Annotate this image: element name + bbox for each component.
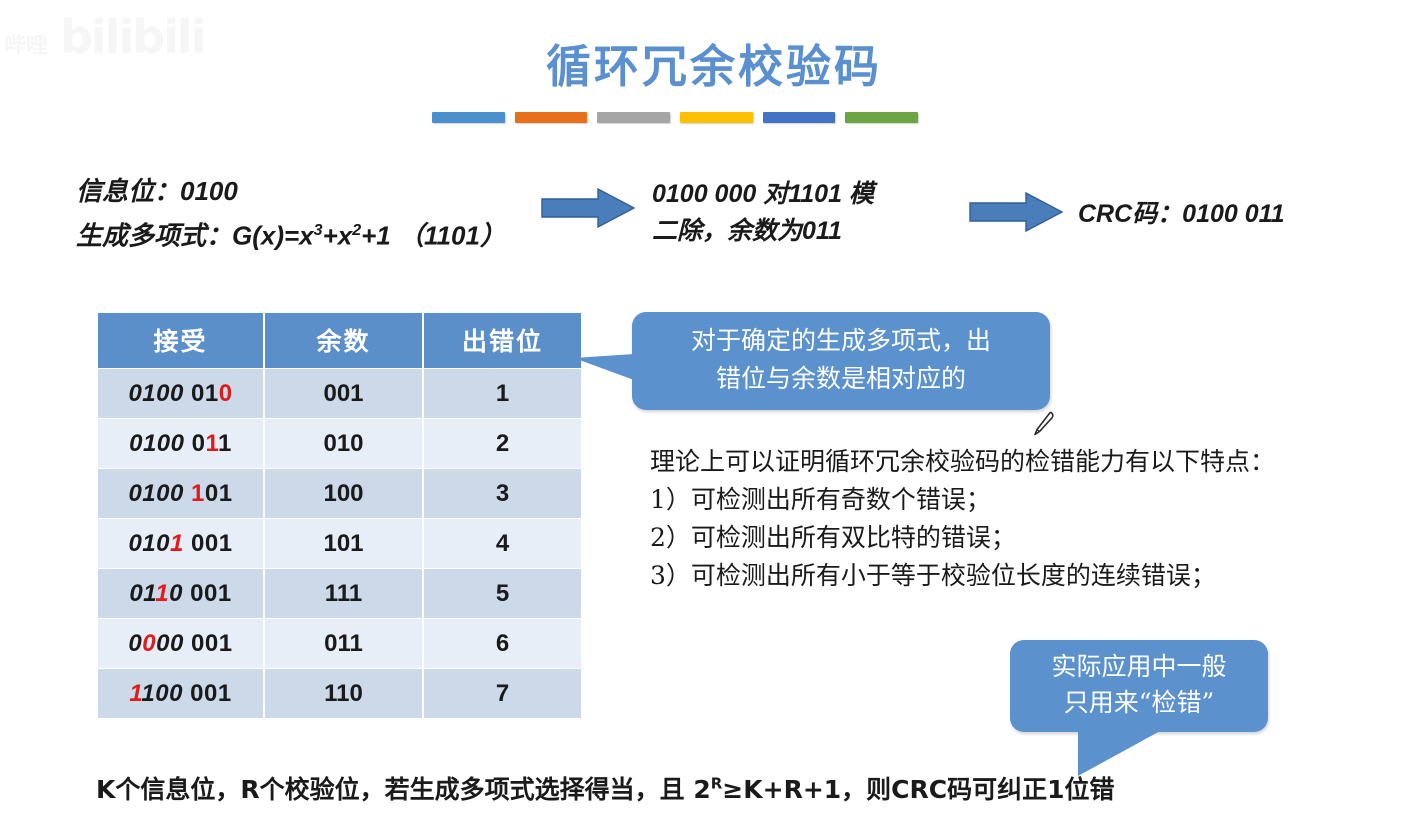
cell-error-position: 5 [424,569,581,618]
rule-bar-2 [515,112,588,123]
division-line-2: 二除，余数为011 [652,213,952,250]
body-line-3: 3）可检测出所有小于等于校验位长度的连续错误； [650,557,1275,595]
cell-remainder: 010 [265,419,422,468]
cell-error-position: 7 [424,669,581,718]
cell-remainder: 110 [265,669,422,718]
rule-bar-1 [432,112,505,123]
cell-received: 1100 001 [98,669,263,718]
callout-1-line-2: 错位与余数是相对应的 [632,360,1050,398]
cell-error-position: 1 [424,369,581,418]
rule-bar-5 [763,112,836,123]
callout-remainder-maps-position: 对于确定的生成多项式，出 错位与余数是相对应的 [632,312,1050,410]
gen-poly-exp-3: 3 [314,222,323,239]
cell-received: 0100 010 [98,369,263,418]
cell-remainder: 111 [265,569,422,618]
callout-1-line-1: 对于确定的生成多项式，出 [632,322,1050,360]
cell-error-position: 6 [424,619,581,668]
info-bits-line: 信息位：0100 [76,172,506,211]
division-line-1: 0100 000 对1101 模 [652,176,952,213]
cell-received: 0000 001 [98,619,263,668]
gen-poly-exp-2: 2 [352,222,361,239]
cell-received: 0110 001 [98,569,263,618]
table-row: 0100 011 010 2 [98,419,581,468]
cell-received: 0100 101 [98,469,263,518]
gen-poly-prefix: 生成多项式：G(x)=x [76,221,314,251]
column-header-error-position: 出错位 [424,313,581,368]
footer-formula-text: K个信息位，R个校验位，若生成多项式选择得当，且 2R≥K+R+1，则CRC码可… [96,770,1115,806]
table-row: 0101 001 101 4 [98,519,581,568]
table-row: 0110 001 111 5 [98,569,581,618]
flow-step-crc-result: CRC码：0100 011 [1078,194,1285,230]
page-title: 循环冗余校验码 [0,30,1428,95]
cell-remainder: 100 [265,469,422,518]
callout-practical-usage: 实际应用中一般 只用来“检错” [1010,640,1268,732]
column-header-received: 接受 [98,313,263,368]
table-row: 1100 001 110 7 [98,669,581,718]
body-line-0: 理论上可以证明循环冗余校验码的检错能力有以下特点： [650,443,1275,481]
cell-received: 0101 001 [98,519,263,568]
body-line-1: 1）可检测出所有奇数个错误； [650,481,1275,519]
cell-remainder: 011 [265,619,422,668]
body-line-2: 2）可检测出所有双比特的错误； [650,519,1275,557]
generator-polynomial-line: 生成多项式：G(x)=x3+x2+1 （1101） [76,211,506,256]
cell-remainder: 001 [265,369,422,418]
footer-prefix: K个信息位，R个校验位，若生成多项式选择得当，且 2 [96,775,711,804]
footer-exponent: R [711,775,723,793]
rule-bar-4 [680,112,753,123]
cell-received: 0100 011 [98,419,263,468]
gen-poly-mid: +x [323,221,353,251]
cell-error-position: 4 [424,519,581,568]
callout-2-line-1: 实际应用中一般 [1010,649,1268,685]
right-arrow-icon [968,190,1064,234]
table-row: 0000 001 011 6 [98,619,581,668]
cell-remainder: 101 [265,519,422,568]
cell-error-position: 3 [424,469,581,518]
flow-step-division: 0100 000 对1101 模 二除，余数为011 [652,176,952,250]
callout-2-line-2: 只用来“检错” [1010,685,1268,721]
table-header-row: 接受 余数 出错位 [98,313,581,368]
table-row: 0100 101 100 3 [98,469,581,518]
footer-suffix: ≥K+R+1，则CRC码可纠正1位错 [722,775,1114,804]
column-header-remainder: 余数 [265,313,422,368]
cell-error-position: 2 [424,419,581,468]
pen-icon [1028,408,1058,438]
table-row: 0100 010 001 1 [98,369,581,418]
table-body: 0100 010 001 1 0100 011 010 2 0100 101 1… [98,369,581,718]
flow-step-input: 信息位：0100 生成多项式：G(x)=x3+x2+1 （1101） [76,172,506,256]
callout-tail-left-icon [574,354,634,380]
crc-error-table: 接受 余数 出错位 0100 010 001 1 0100 011 010 2 … [96,312,583,719]
rule-bar-6 [845,112,918,123]
title-rule-bars [432,112,918,123]
slide-canvas: 哔哩 bilibili 循环冗余校验码 信息位：0100 生成多项式：G(x)=… [0,0,1428,826]
rule-bar-3 [597,112,670,123]
gen-poly-suffix: +1 （1101） [361,221,506,251]
right-arrow-icon [540,186,636,230]
detection-capability-text: 理论上可以证明循环冗余校验码的检错能力有以下特点： 1）可检测出所有奇数个错误；… [650,443,1275,595]
